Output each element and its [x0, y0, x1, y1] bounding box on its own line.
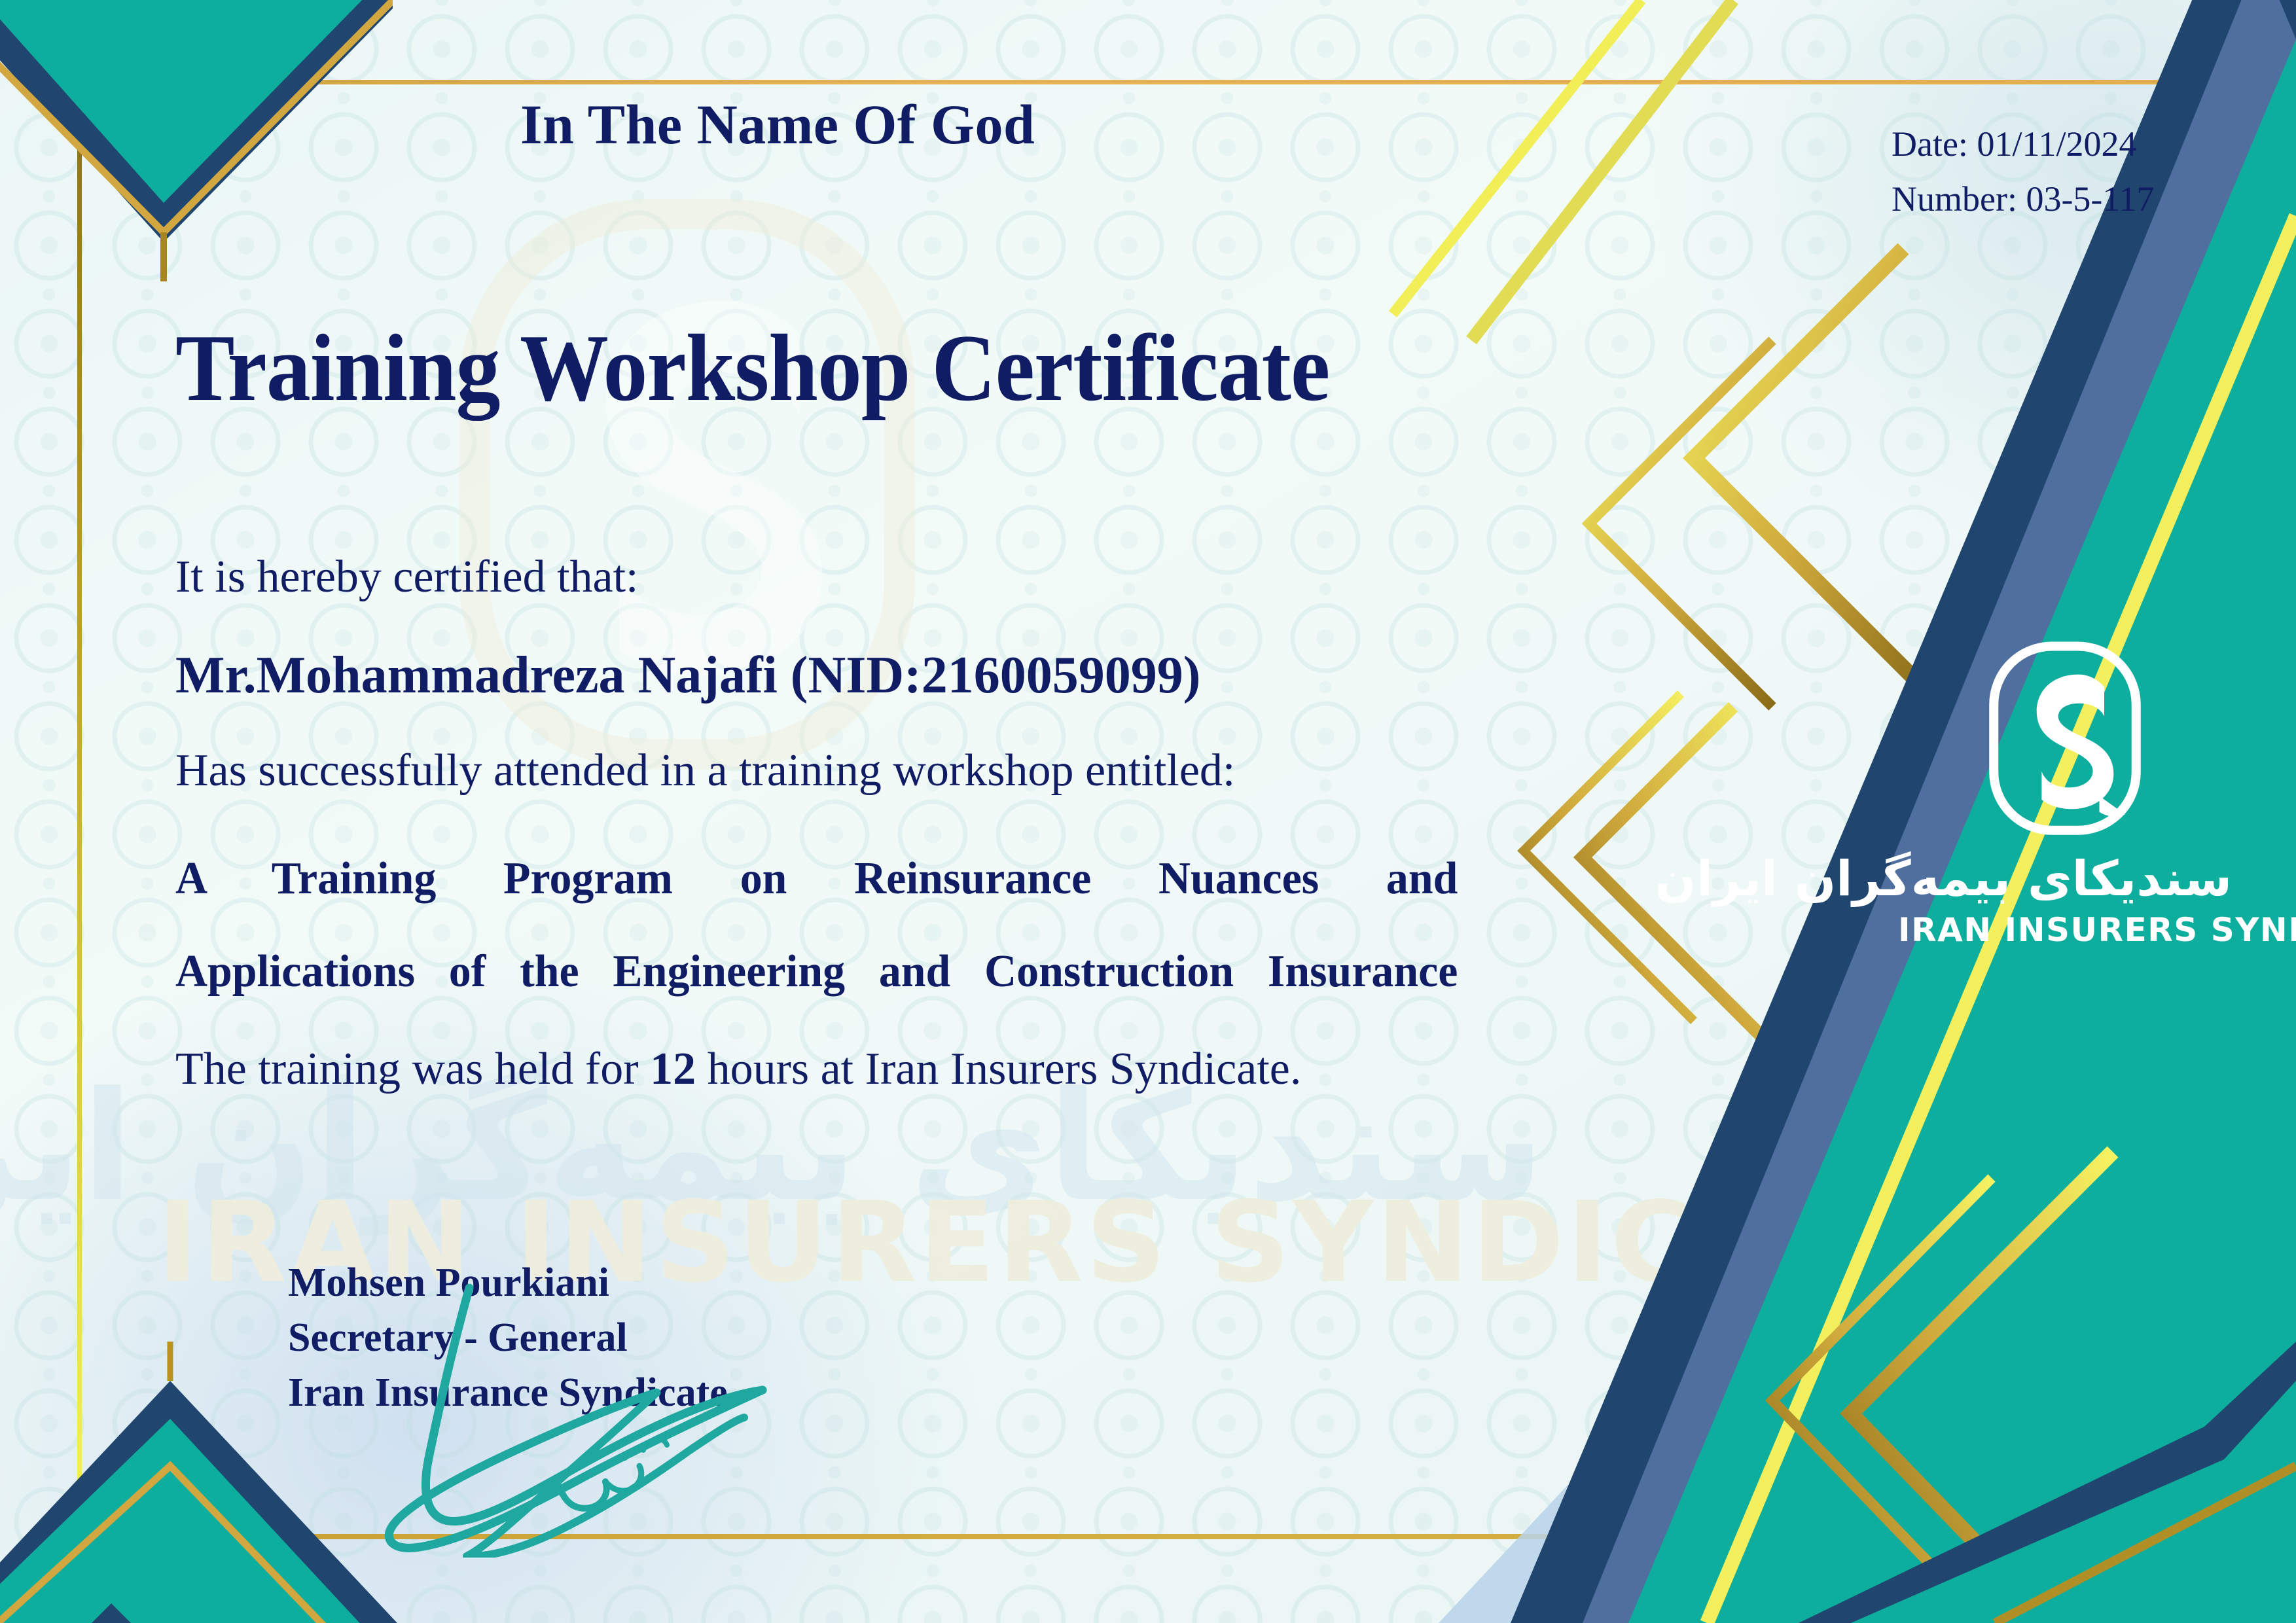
- syndicate-logo-block: سندیکای بیمه‌گران ایران IRAN INSURERS SY…: [1898, 641, 2232, 949]
- hours-prefix: The training was held for: [175, 1044, 639, 1094]
- training-duration-statement: The training was held for 12 hours at Ir…: [175, 1042, 1504, 1097]
- logo-persian-name: سندیکای بیمه‌گران ایران: [1898, 851, 2232, 907]
- frame-border-left: [77, 80, 82, 1539]
- handwritten-signature: [298, 1283, 834, 1558]
- attendance-statement: Has successfully attended in a training …: [175, 743, 1504, 798]
- corner-chevron-top-left: [0, 0, 393, 281]
- course-title-line-2: Applications of the Engineering and Cons…: [175, 925, 1458, 1018]
- certificate-body: It is hereby certified that: Mr.Mohammad…: [175, 550, 1504, 1097]
- certificate-number: Number: 03-5-117: [1892, 171, 2166, 226]
- hours-value: 12: [650, 1044, 696, 1094]
- page-title: Training Workshop Certificate: [175, 313, 1329, 423]
- certified-statement: It is hereby certified that:: [175, 550, 1504, 605]
- certificate-page: سندیکای بیمه‌گران ایران IRAN INSURERS SY…: [0, 0, 2296, 1623]
- issue-date: Date: 01/11/2024: [1892, 116, 2166, 171]
- logo-english-name: IRAN INSURERS SYNDICATE: [1898, 911, 2232, 949]
- recipient-name: Mr.Mohammadreza Najafi (NID:2160059099): [175, 645, 1504, 705]
- hours-suffix: hours at Iran Insurers Syndicate.: [708, 1044, 1302, 1094]
- syndicate-logo-mark: [1980, 641, 2150, 838]
- certificate-meta: Date: 01/11/2024 Number: 03-5-117: [1892, 116, 2166, 226]
- course-title-line-1: A Training Program on Reinsurance Nuance…: [175, 832, 1458, 925]
- bismillah-heading: In The Name Of God: [520, 92, 1035, 157]
